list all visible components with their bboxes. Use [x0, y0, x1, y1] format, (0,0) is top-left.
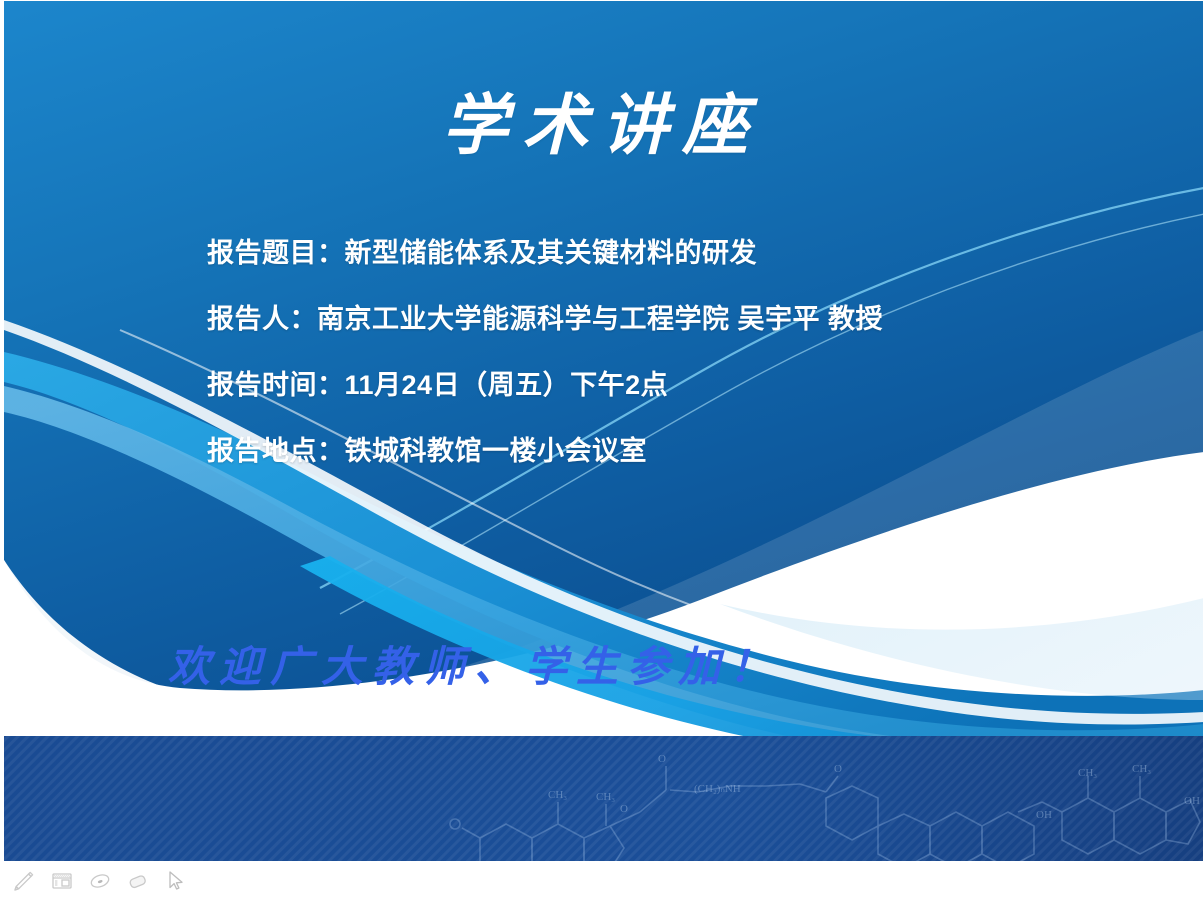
eraser-icon[interactable]	[124, 867, 152, 895]
info-line-topic: 报告题目：新型储能体系及其关键材料的研发	[207, 240, 1087, 267]
presentation-slide: CH₃ CH₃ O O (CH₂)ₙNH O COOH O OH CH₃ CH₃…	[0, 0, 1204, 900]
slide-title: 学术讲座	[0, 92, 1204, 158]
svg-text:CH₃: CH₃	[1132, 763, 1151, 775]
info-line-location: 报告地点：铁城科教馆一楼小会议室	[207, 438, 1087, 465]
svg-text:CH₃: CH₃	[596, 791, 615, 803]
svg-text:O: O	[620, 803, 628, 815]
svg-text:(CH₂)ₙNH: (CH₂)ₙNH	[694, 783, 741, 795]
pen-icon[interactable]	[10, 867, 38, 895]
svg-text:O: O	[658, 753, 666, 765]
svg-text:CH₃: CH₃	[1078, 767, 1097, 779]
info-line-time: 报告时间：11月24日（周五）下午2点	[207, 372, 1087, 399]
svg-text:CH₃: CH₃	[548, 789, 567, 801]
slide-canvas: CH₃ CH₃ O O (CH₂)ₙNH O COOH O OH CH₃ CH₃…	[0, 0, 1204, 862]
info-line-speaker: 报告人：南京工业大学能源科学与工程学院 吴宇平 教授	[207, 306, 1087, 333]
svg-text:O: O	[834, 763, 842, 775]
annotation-toolbar	[0, 862, 1204, 900]
welcome-message: 欢迎广大教师、学生参加！	[168, 646, 780, 688]
lecture-info-block: 报告题目：新型储能体系及其关键材料的研发 报告人：南京工业大学能源科学与工程学院…	[207, 240, 1087, 465]
highlighter-icon[interactable]	[86, 867, 114, 895]
svg-text:OH: OH	[1036, 809, 1052, 821]
cursor-icon[interactable]	[162, 867, 190, 895]
panel-icon[interactable]	[48, 867, 76, 895]
svg-text:OH: OH	[1184, 795, 1200, 807]
footer-band: CH₃ CH₃ O O (CH₂)ₙNH O COOH O OH CH₃ CH₃…	[4, 736, 1204, 862]
